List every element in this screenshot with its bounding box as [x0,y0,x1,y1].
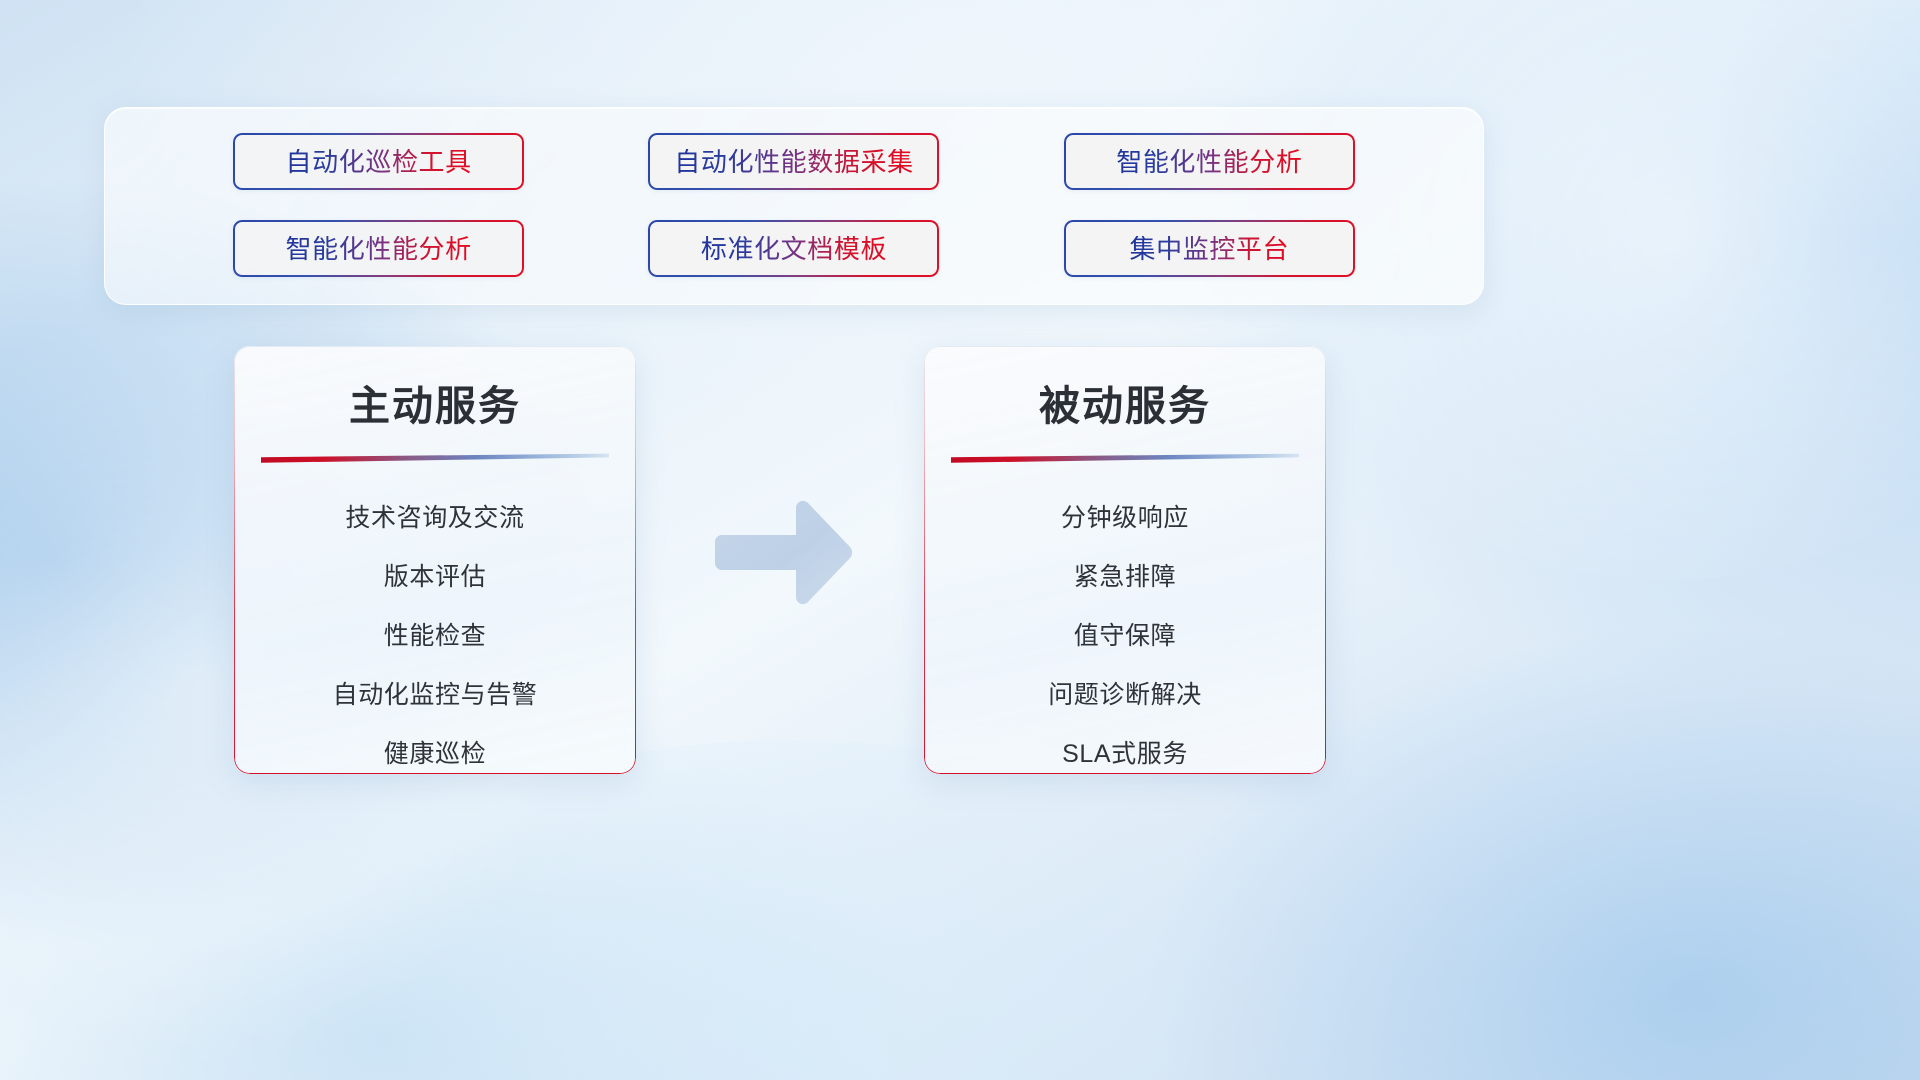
card-divider [261,453,609,465]
card-list-item: 分钟级响应 [1061,489,1189,548]
card-list-item: 版本评估 [384,548,486,607]
capability-pill-label: 自动化性能数据采集 [674,149,913,175]
capability-pill-label: 智能化性能分析 [1116,149,1302,175]
capability-pill[interactable]: 智能化性能分析 [1064,133,1355,190]
service-card-proactive: 主动服务 技术咨询及交流 版本评估 性能检查 自动化监控与告警 健康巡检 [234,346,636,774]
card-title: 主动服务 [234,372,636,432]
capability-pill[interactable]: 集中监控平台 [1064,220,1355,277]
capability-pill-label: 智能化性能分析 [286,236,472,262]
card-list-item: 值守保障 [1074,607,1176,666]
capability-pill[interactable]: 标准化文档模板 [648,220,939,277]
card-item-list: 技术咨询及交流 版本评估 性能检查 自动化监控与告警 健康巡检 [234,489,636,774]
capability-pill[interactable]: 自动化性能数据采集 [648,133,939,190]
capability-pill[interactable]: 自动化巡检工具 [233,133,524,190]
card-list-item: 自动化监控与告警 [333,666,538,725]
card-divider [951,453,1299,465]
card-list-item: 技术咨询及交流 [345,489,524,548]
capability-pill[interactable]: 智能化性能分析 [233,220,524,277]
capabilities-panel: 自动化巡检工具 自动化性能数据采集 智能化性能分析 智能化性能分析 标准化文档模… [104,107,1484,305]
capabilities-grid: 自动化巡检工具 自动化性能数据采集 智能化性能分析 智能化性能分析 标准化文档模… [105,108,1483,304]
capability-pill-label: 标准化文档模板 [701,236,887,262]
card-list-item: SLA式服务 [1062,725,1188,774]
card-list-item: 健康巡检 [384,725,486,774]
service-card-reactive: 被动服务 分钟级响应 紧急排障 值守保障 问题诊断解决 SLA式服务 [924,346,1326,774]
card-list-item: 紧急排障 [1074,548,1176,607]
card-list-item: 问题诊断解决 [1048,666,1202,725]
capability-pill-label: 自动化巡检工具 [286,149,472,175]
card-item-list: 分钟级响应 紧急排障 值守保障 问题诊断解决 SLA式服务 [924,489,1326,774]
card-title: 被动服务 [924,372,1326,432]
right-arrow-icon [712,500,852,610]
capability-pill-label: 集中监控平台 [1130,236,1290,262]
card-list-item: 性能检查 [384,607,486,666]
